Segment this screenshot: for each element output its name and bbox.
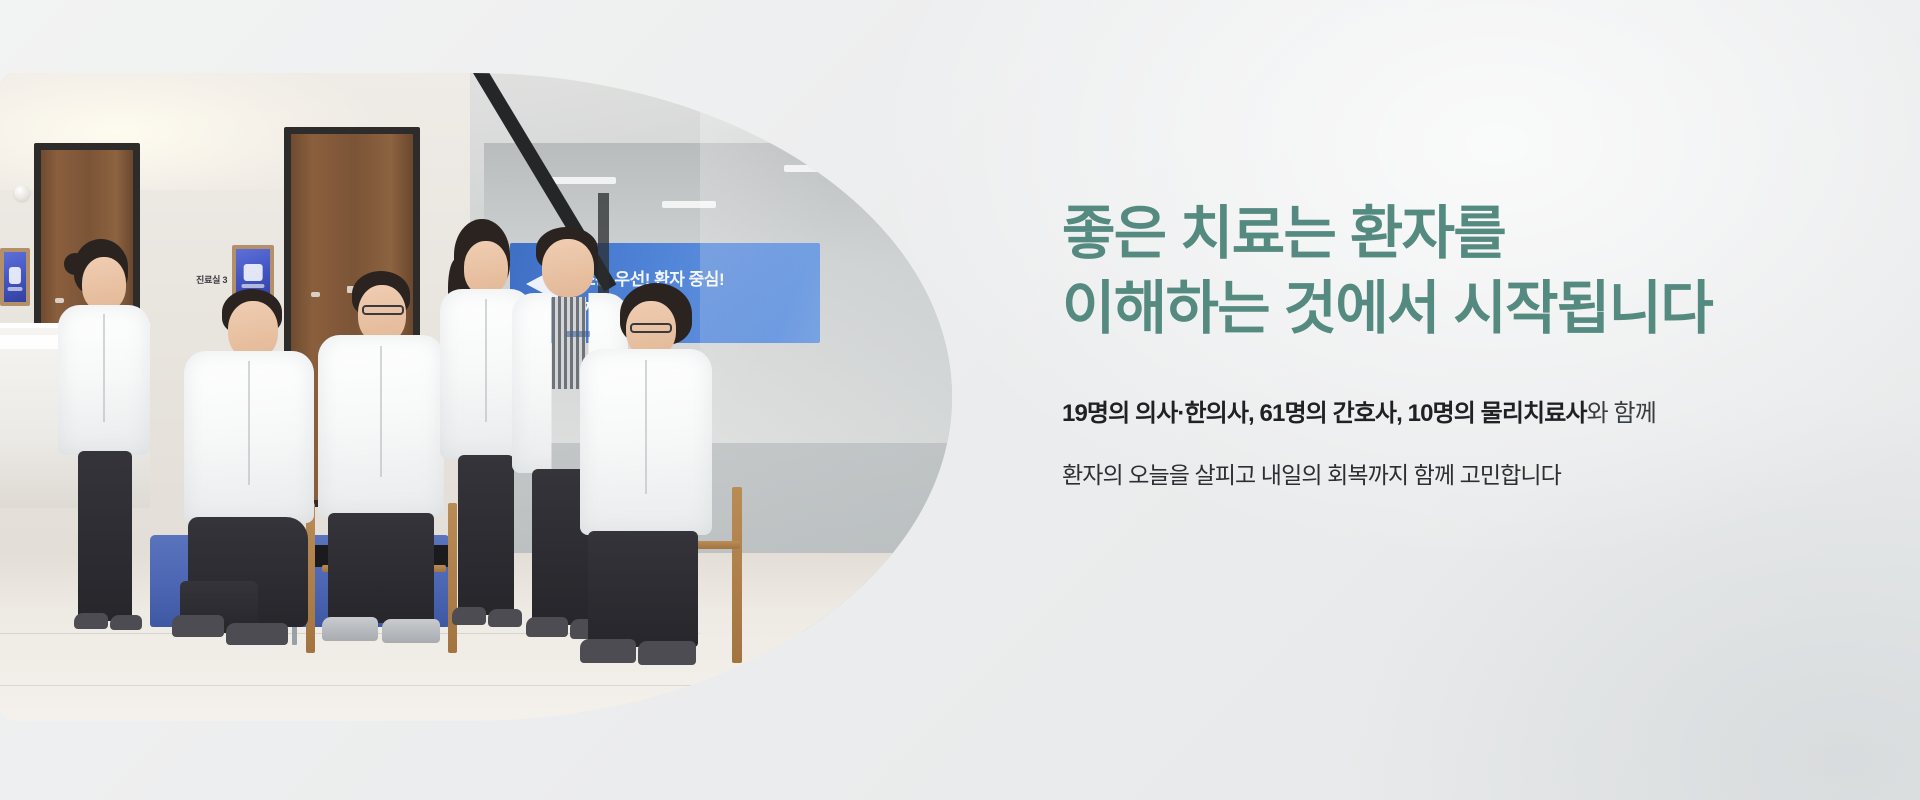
hero-text-block: 좋은 치료는 환자를 이해하는 것에서 시작됩니다 19명의 의사·한의사, 6…: [1062, 196, 1862, 513]
smoke-detector: [14, 185, 30, 201]
staff-member-6: [572, 283, 732, 683]
hero-photo: 소통 우선! 환자 중심! 기운찬 우리 가치 만드는 병원 진료실 3: [0, 73, 952, 721]
staff-stats-tail: 와 함께: [1587, 400, 1656, 427]
staff-member-1: [52, 239, 162, 659]
tagline: 환자의 오늘을 살피고 내일의 회복까지 함께 고민합니다: [1062, 456, 1862, 490]
page-title: 좋은 치료는 환자를 이해하는 것에서 시작됩니다: [1062, 196, 1862, 347]
floor-tile-line: [0, 685, 900, 686]
room-sign-label: 진료실 3: [196, 273, 227, 286]
hero-banner: 소통 우선! 환자 중심! 기운찬 우리 가치 만드는 병원 진료실 3: [0, 0, 1920, 800]
headline-line-1: 좋은 치료는 환자를: [1062, 196, 1862, 271]
wall-poster-left: [0, 248, 30, 306]
headline-line-2: 이해하는 것에서 시작됩니다: [1062, 271, 1862, 346]
eyeglasses: [362, 305, 404, 315]
eyeglasses: [630, 323, 672, 333]
ceiling-light-strip: [546, 177, 616, 184]
staff-stats-bold: 19명의 의사·한의사, 61명의 간호사, 10명의 물리치료사: [1062, 400, 1587, 427]
staff-stats-line: 19명의 의사·한의사, 61명의 간호사, 10명의 물리치료사와 함께: [1062, 397, 1862, 432]
